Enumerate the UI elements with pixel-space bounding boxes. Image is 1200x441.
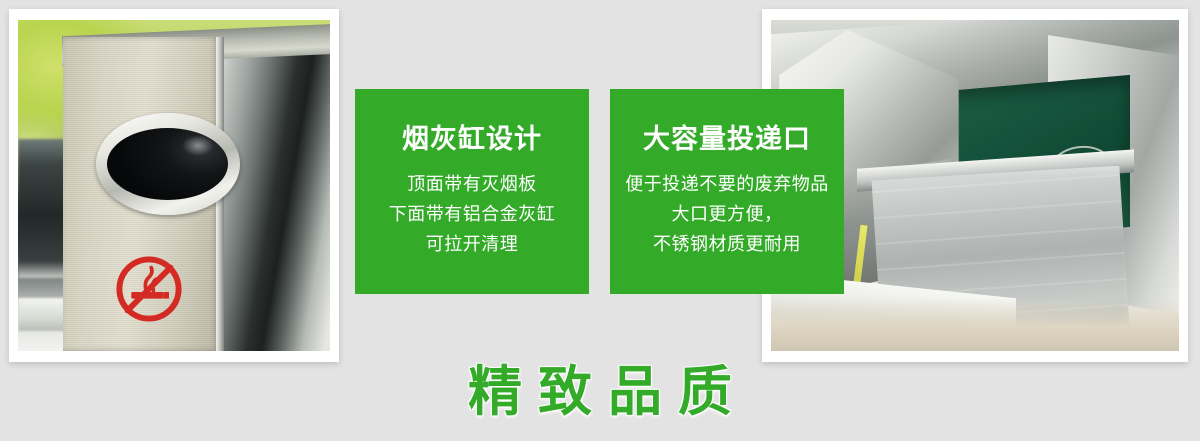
product-photo-ashtray: [18, 20, 330, 351]
feature-panel-line: 便于投递不要的废弃物品: [625, 169, 829, 199]
no-smoking-icon: [112, 252, 186, 326]
feature-panel-title: 烟灰缸设计: [402, 123, 542, 155]
ashtray-opening-glint: [182, 135, 214, 156]
feature-panel-title: 大容量投递口: [643, 123, 811, 155]
feature-panel-line: 下面带有铝合金灰缸: [389, 199, 556, 229]
feature-panel-description: 顶面带有灭烟板 下面带有铝合金灰缸 可拉开清理: [389, 169, 556, 259]
promo-banner: 烟灰缸设计 顶面带有灭烟板 下面带有铝合金灰缸 可拉开清理 大容量投递口 便于投…: [0, 0, 1200, 441]
feature-panel-line: 顶面带有灭烟板: [389, 169, 556, 199]
feature-panel-line: 可拉开清理: [389, 229, 556, 259]
banner-headline: 精致品质: [0, 356, 1200, 428]
feature-panel-description: 便于投递不要的废弃物品 大口更方便， 不锈钢材质更耐用: [625, 169, 829, 259]
bin-base-ground: [771, 298, 1179, 351]
ashtray-opening-ring: [96, 113, 240, 216]
feature-panel-large-opening: 大容量投递口 便于投递不要的废弃物品 大口更方便， 不锈钢材质更耐用: [610, 89, 844, 294]
feature-panel-ashtray-design: 烟灰缸设计 顶面带有灭烟板 下面带有铝合金灰缸 可拉开清理: [355, 89, 589, 294]
product-photo-card-left: [9, 9, 339, 362]
feature-panel-line: 大口更方便，: [625, 199, 829, 229]
feature-panel-line: 不锈钢材质更耐用: [625, 229, 829, 259]
